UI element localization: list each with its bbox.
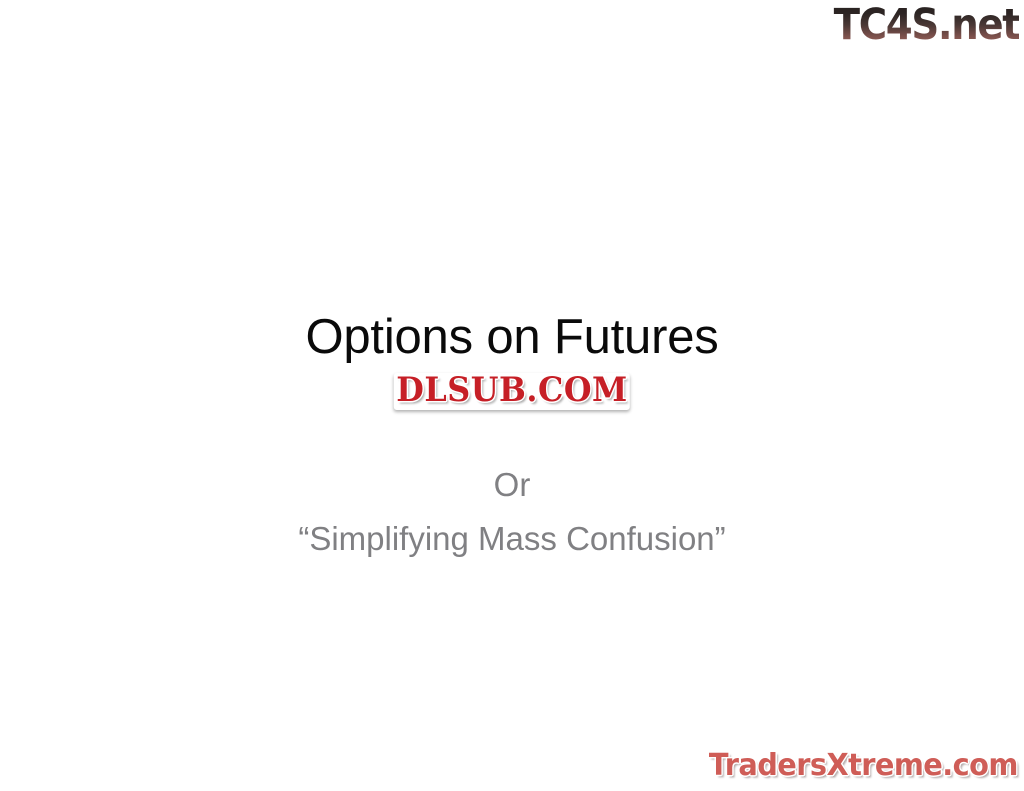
presentation-slide: TC4S.net Options on Futures DLSUB.COM Or… bbox=[0, 0, 1024, 791]
dlsub-com-watermark-text: DLSUB.COM bbox=[396, 374, 628, 408]
subtitle-block: Or “Simplifying Mass Confusion” bbox=[0, 458, 1024, 566]
subtitle-line-1: Or bbox=[0, 458, 1024, 512]
tradersxtreme-com-watermark: TradersXtreme.com bbox=[709, 749, 1018, 783]
title-block: Options on Futures bbox=[0, 308, 1024, 366]
subtitle-line-2: “Simplifying Mass Confusion” bbox=[0, 512, 1024, 566]
dlsub-com-watermark: DLSUB.COM bbox=[394, 373, 630, 410]
page-title: Options on Futures bbox=[0, 308, 1024, 366]
tc4s-net-logo: TC4S.net bbox=[833, 1, 1019, 49]
